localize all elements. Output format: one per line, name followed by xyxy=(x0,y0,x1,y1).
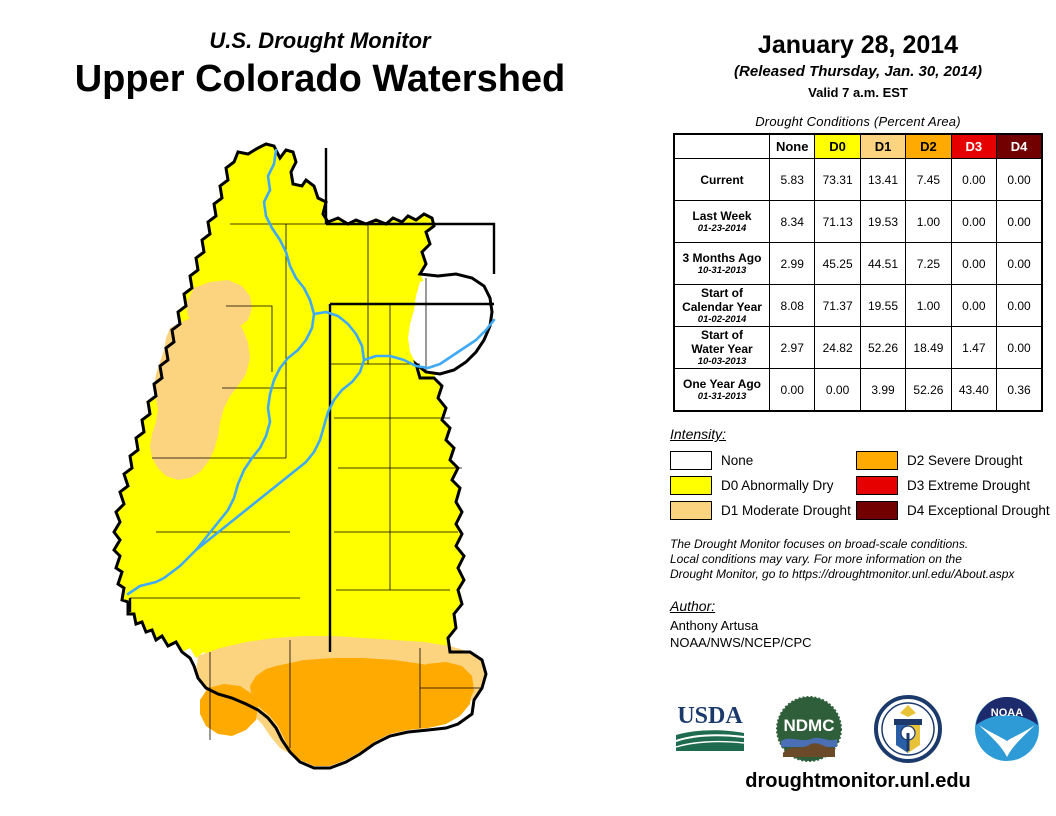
author-name: Anthony Artusa xyxy=(670,617,1056,634)
legend-swatch-d4 xyxy=(856,501,898,520)
value-cell-d0: 73.31 xyxy=(815,159,860,201)
legend-label-d3: D3 Extreme Drought xyxy=(907,478,1030,494)
row-label-date: 01-31-2013 xyxy=(675,391,769,403)
svg-text:USDA: USDA xyxy=(677,703,743,729)
row-label-date: 01-02-2014 xyxy=(675,314,769,326)
value-cell-d3: 0.00 xyxy=(951,285,996,327)
value-cell-d3: 43.40 xyxy=(951,369,996,412)
usda-logo: USDA xyxy=(670,689,750,769)
table-row: Current5.8373.3113.417.450.000.00 xyxy=(674,159,1042,201)
value-cell-d2: 7.25 xyxy=(906,243,951,285)
legend-swatch-d2 xyxy=(856,451,898,470)
value-cell-d3: 0.00 xyxy=(951,243,996,285)
disclaimer-line-1: The Drought Monitor focuses on broad-sca… xyxy=(670,537,1050,552)
table-row: One Year Ago01-31-20130.000.003.9952.264… xyxy=(674,369,1042,412)
value-cell-d4: 0.00 xyxy=(997,159,1042,201)
value-cell-d1: 13.41 xyxy=(860,159,905,201)
title-block: U.S. Drought Monitor Upper Colorado Wate… xyxy=(0,28,640,102)
value-cell-none: 8.34 xyxy=(770,201,815,243)
disclaimer-line-3: Drought Monitor, go to https://droughtmo… xyxy=(670,567,1050,582)
value-cell-d4: 0.36 xyxy=(997,369,1042,412)
row-label: Start ofCalendar Year01-02-2014 xyxy=(674,285,770,327)
legend-swatch-d0 xyxy=(670,476,712,495)
legend-item-d2: D2 Severe Drought xyxy=(856,451,1056,470)
drought-map[interactable] xyxy=(90,128,650,810)
svg-text:NDMC: NDMC xyxy=(783,716,834,735)
value-cell-none: 0.00 xyxy=(770,369,815,412)
legend-swatch-d3 xyxy=(856,476,898,495)
program-title: U.S. Drought Monitor xyxy=(0,28,640,54)
value-cell-d1: 19.55 xyxy=(860,285,905,327)
value-cell-d4: 0.00 xyxy=(997,243,1042,285)
value-cell-d0: 71.37 xyxy=(815,285,860,327)
author-affiliation: NOAA/NWS/NCEP/CPC xyxy=(670,634,1056,651)
noaa-logo: NOAA xyxy=(967,689,1047,769)
issue-date: January 28, 2014 xyxy=(660,30,1056,60)
value-cell-d2: 1.00 xyxy=(906,285,951,327)
value-cell-d2: 7.45 xyxy=(906,159,951,201)
column-header-d0: D0 xyxy=(815,134,860,159)
column-header-d2: D2 xyxy=(906,134,951,159)
value-cell-d0: 0.00 xyxy=(815,369,860,412)
table-header-row: NoneD0D1D2D3D4 xyxy=(674,134,1042,159)
legend-item-d0: D0 Abnormally Dry xyxy=(670,476,856,495)
value-cell-d3: 0.00 xyxy=(951,159,996,201)
svg-text:NOAA: NOAA xyxy=(990,707,1022,719)
legend-label-d0: D0 Abnormally Dry xyxy=(721,478,834,494)
legend-swatch-none xyxy=(670,451,712,470)
table-caption: Drought Conditions (Percent Area) xyxy=(660,114,1056,129)
table-row: Start ofCalendar Year01-02-20148.0871.37… xyxy=(674,285,1042,327)
column-header-none: None xyxy=(770,134,815,159)
table-corner-cell xyxy=(674,134,770,159)
region-title: Upper Colorado Watershed xyxy=(0,56,640,102)
column-header-d3: D3 xyxy=(951,134,996,159)
value-cell-d3: 0.00 xyxy=(951,201,996,243)
value-cell-none: 2.99 xyxy=(770,243,815,285)
author-heading: Author: xyxy=(670,598,1056,614)
table-row: Start ofWater Year10-03-20132.9724.8252.… xyxy=(674,327,1042,369)
disclaimer-text: The Drought Monitor focuses on broad-sca… xyxy=(670,537,1050,582)
map-fills xyxy=(114,144,492,766)
row-label: Last Week01-23-2014 xyxy=(674,201,770,243)
column-header-d1: D1 xyxy=(860,134,905,159)
value-cell-none: 5.83 xyxy=(770,159,815,201)
row-label: 3 Months Ago10-31-2013 xyxy=(674,243,770,285)
value-cell-d1: 44.51 xyxy=(860,243,905,285)
region-none-east xyxy=(408,274,492,374)
row-label: Start ofWater Year10-03-2013 xyxy=(674,327,770,369)
intensity-heading: Intensity: xyxy=(670,426,1056,442)
value-cell-d1: 3.99 xyxy=(860,369,905,412)
value-cell-d0: 45.25 xyxy=(815,243,860,285)
table-body: Current5.8373.3113.417.450.000.00Last We… xyxy=(674,159,1042,412)
intensity-legend: Intensity: NoneD2 Severe DroughtD0 Abnor… xyxy=(670,426,1056,523)
author-section: Author: Anthony Artusa NOAA/NWS/NCEP/CPC xyxy=(670,598,1056,651)
row-label-date: 01-23-2014 xyxy=(675,223,769,235)
row-label-date: 10-03-2013 xyxy=(675,356,769,368)
table-row: Last Week01-23-20148.3471.1319.531.000.0… xyxy=(674,201,1042,243)
doc-seal-logo xyxy=(868,689,948,769)
valid-time: Valid 7 a.m. EST xyxy=(660,84,1056,102)
value-cell-none: 8.08 xyxy=(770,285,815,327)
value-cell-d2: 18.49 xyxy=(906,327,951,369)
ndmc-logo: NDMC xyxy=(769,689,849,769)
map-panel: U.S. Drought Monitor Upper Colorado Wate… xyxy=(0,0,660,816)
value-cell-d0: 71.13 xyxy=(815,201,860,243)
release-date: (Released Thursday, Jan. 30, 2014) xyxy=(660,62,1056,82)
legend-label-d1: D1 Moderate Drought xyxy=(721,503,851,519)
site-url[interactable]: droughtmonitor.unl.edu xyxy=(660,770,1056,793)
legend-item-d4: D4 Exceptional Drought xyxy=(856,501,1056,520)
table-row: 3 Months Ago10-31-20132.9945.2544.517.25… xyxy=(674,243,1042,285)
row-label: One Year Ago01-31-2013 xyxy=(674,369,770,412)
legend-grid: NoneD2 Severe DroughtD0 Abnormally DryD3… xyxy=(670,448,1056,523)
value-cell-none: 2.97 xyxy=(770,327,815,369)
value-cell-d1: 19.53 xyxy=(860,201,905,243)
disclaimer-line-2: Local conditions may vary. For more info… xyxy=(670,552,1050,567)
logo-row: USDA NDMC NOAA xyxy=(660,686,1056,772)
legend-label-none: None xyxy=(721,453,753,469)
row-label-date: 10-31-2013 xyxy=(675,265,769,277)
column-header-d4: D4 xyxy=(997,134,1042,159)
legend-label-d2: D2 Severe Drought xyxy=(907,453,1023,469)
legend-item-d1: D1 Moderate Drought xyxy=(670,501,856,520)
legend-item-d3: D3 Extreme Drought xyxy=(856,476,1056,495)
value-cell-d4: 0.00 xyxy=(997,201,1042,243)
legend-label-d4: D4 Exceptional Drought xyxy=(907,503,1050,519)
value-cell-d2: 52.26 xyxy=(906,369,951,412)
info-panel: January 28, 2014 (Released Thursday, Jan… xyxy=(660,0,1056,816)
value-cell-d3: 1.47 xyxy=(951,327,996,369)
date-block: January 28, 2014 (Released Thursday, Jan… xyxy=(660,0,1056,102)
value-cell-d4: 0.00 xyxy=(997,285,1042,327)
value-cell-d0: 24.82 xyxy=(815,327,860,369)
row-label: Current xyxy=(674,159,770,201)
legend-swatch-d1 xyxy=(670,501,712,520)
value-cell-d4: 0.00 xyxy=(997,327,1042,369)
legend-item-none: None xyxy=(670,451,856,470)
value-cell-d1: 52.26 xyxy=(860,327,905,369)
drought-conditions-table: NoneD0D1D2D3D4 Current5.8373.3113.417.45… xyxy=(673,133,1043,412)
value-cell-d2: 1.00 xyxy=(906,201,951,243)
